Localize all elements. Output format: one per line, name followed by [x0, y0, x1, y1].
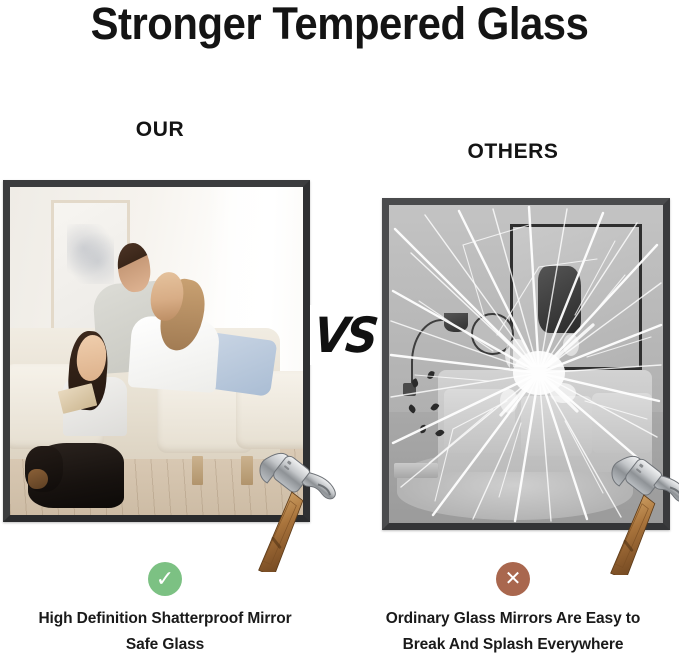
others-caption-line-1: Ordinary Glass Mirrors Are Easy to: [347, 606, 679, 632]
check-icon: ✓: [148, 562, 182, 596]
potted-plant: [405, 358, 471, 466]
our-caption-line-1: High Definition Shatterproof Mirror: [0, 606, 330, 632]
others-mirror-photo: [389, 205, 663, 523]
comparison-infographic: Stronger Tempered Glass OUR OTHERS: [0, 0, 679, 663]
our-mirror-photo: [10, 187, 303, 515]
sofa-cushion: [592, 393, 652, 453]
sofa-leg: [192, 456, 204, 486]
family-living-room-scene: [10, 187, 303, 515]
column-label-our: OUR: [0, 118, 320, 142]
others-verdict: ✕ Ordinary Glass Mirrors Are Easy to Bre…: [347, 562, 679, 658]
page-title: Stronger Tempered Glass: [24, 0, 655, 50]
sofa-cushion: [521, 396, 592, 456]
vs-divider: VS: [310, 305, 380, 365]
our-mirror-frame: [3, 180, 310, 522]
column-label-others: OTHERS: [380, 140, 646, 164]
arc-lamp-shade: [444, 313, 469, 332]
our-caption-line-2: Safe Glass: [0, 632, 330, 658]
sofa-leg: [241, 456, 253, 486]
others-mirror-frame: [382, 198, 670, 530]
vs-label: VS: [312, 311, 378, 360]
others-caption-line-2: Break And Splash Everywhere: [347, 632, 679, 658]
dog-snout: [28, 469, 49, 489]
shattered-living-room-scene: [389, 205, 663, 523]
cross-icon: ✕: [496, 562, 530, 596]
round-mirror: [471, 313, 513, 355]
our-verdict: ✓ High Definition Shatterproof Mirror Sa…: [0, 562, 330, 658]
wall-art: [510, 224, 642, 370]
